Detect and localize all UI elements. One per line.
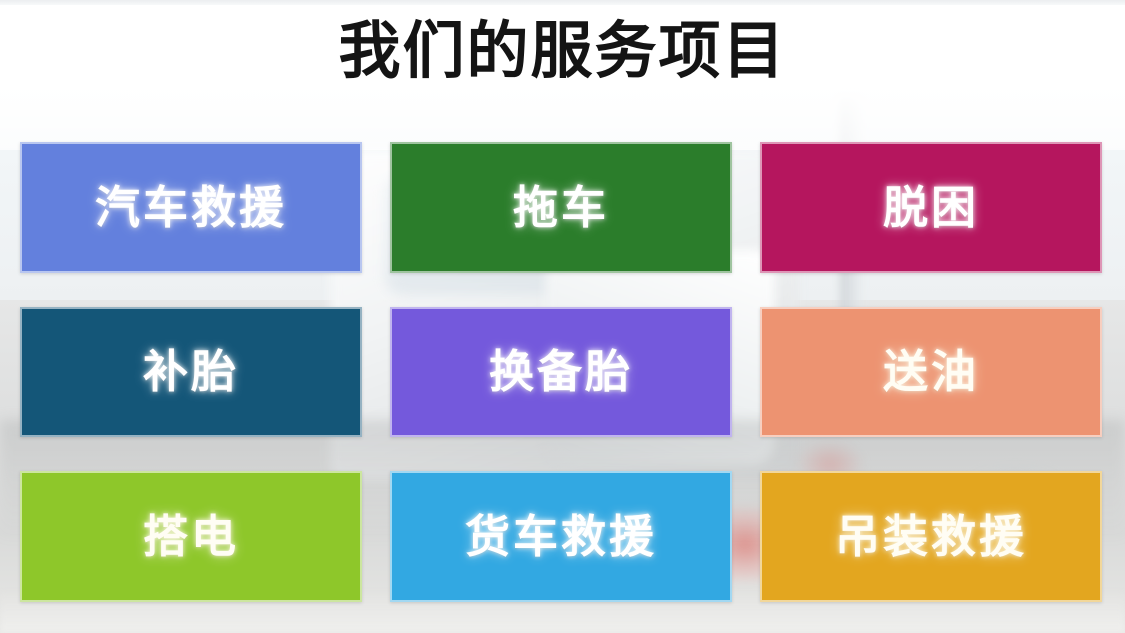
service-tile-tire-repair[interactable]: 补胎 — [20, 307, 362, 438]
service-tile-label: 搭电 — [143, 514, 239, 559]
service-tile-extrication[interactable]: 脱困 — [760, 142, 1102, 273]
service-tile-grid: 汽车救援拖车脱困补胎换备胎送油搭电货车救援吊装救援 — [20, 142, 1102, 602]
service-tile-jump-start[interactable]: 搭电 — [20, 471, 362, 602]
service-tile-label: 货车救援 — [465, 514, 657, 559]
service-tile-label: 吊装救援 — [835, 514, 1027, 559]
service-tile-label: 拖车 — [513, 185, 609, 230]
service-tile-crane-lifting-rescue[interactable]: 吊装救援 — [760, 471, 1102, 602]
service-tile-truck-rescue[interactable]: 货车救援 — [390, 471, 732, 602]
service-poster: 我们的服务项目 汽车救援拖车脱困补胎换备胎送油搭电货车救援吊装救援 — [0, 0, 1125, 633]
page-title-container: 我们的服务项目 — [0, 18, 1125, 85]
service-tile-label: 脱困 — [883, 185, 979, 230]
service-tile-spare-tire-change[interactable]: 换备胎 — [390, 307, 732, 438]
service-tile-label: 送油 — [883, 349, 979, 394]
page-title: 我们的服务项目 — [338, 18, 786, 85]
service-tile-towing[interactable]: 拖车 — [390, 142, 732, 273]
service-tile-label: 换备胎 — [489, 349, 633, 394]
background-top-edge — [0, 0, 1125, 5]
service-tile-fuel-delivery[interactable]: 送油 — [760, 307, 1102, 438]
service-tile-car-rescue[interactable]: 汽车救援 — [20, 142, 362, 273]
service-tile-label: 补胎 — [143, 349, 239, 394]
service-tile-label: 汽车救援 — [95, 185, 287, 230]
